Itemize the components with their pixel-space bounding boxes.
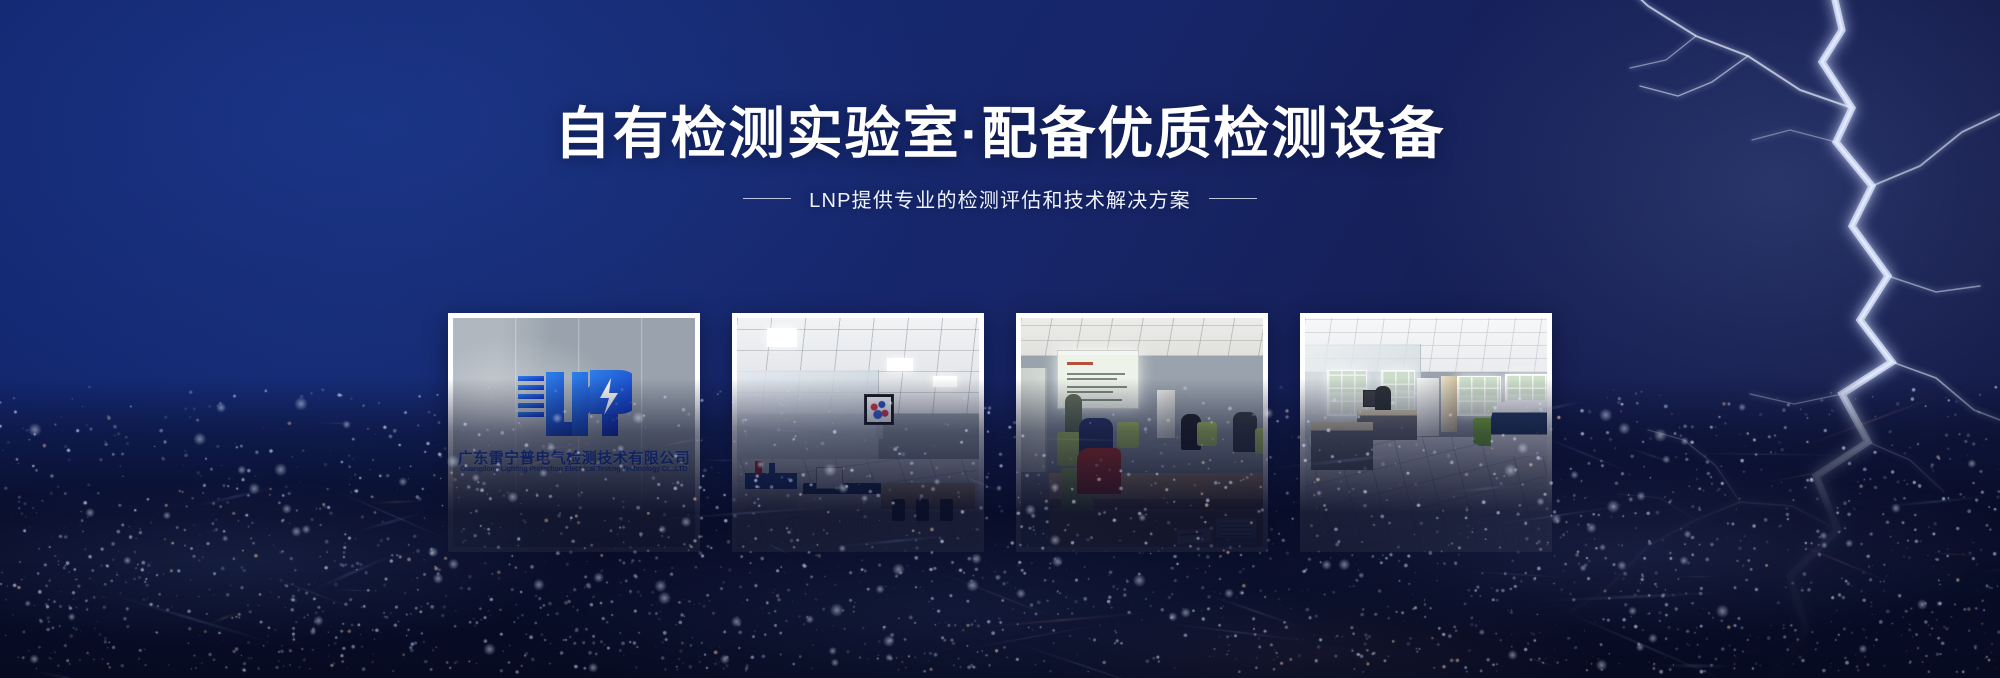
night-city-background [0, 378, 2000, 678]
rule-left [743, 198, 791, 199]
page-subtitle: LNP提供专业的检测评估和技术解决方案 [809, 184, 1191, 213]
page-title: 自有检测实验室·配备优质检测设备 [0, 103, 2000, 166]
subtitle-row: LNP提供专业的检测评估和技术解决方案 [0, 184, 2000, 213]
city-lights [0, 378, 2000, 678]
ceiling-light [767, 328, 797, 347]
hero-banner: 自有检测实验室·配备优质检测设备 LNP提供专业的检测评估和技术解决方案 [0, 0, 2000, 678]
rule-right [1209, 198, 1257, 199]
hero-text-block: 自有检测实验室·配备优质检测设备 LNP提供专业的检测评估和技术解决方案 [0, 103, 2000, 213]
ceiling-light [887, 358, 913, 371]
